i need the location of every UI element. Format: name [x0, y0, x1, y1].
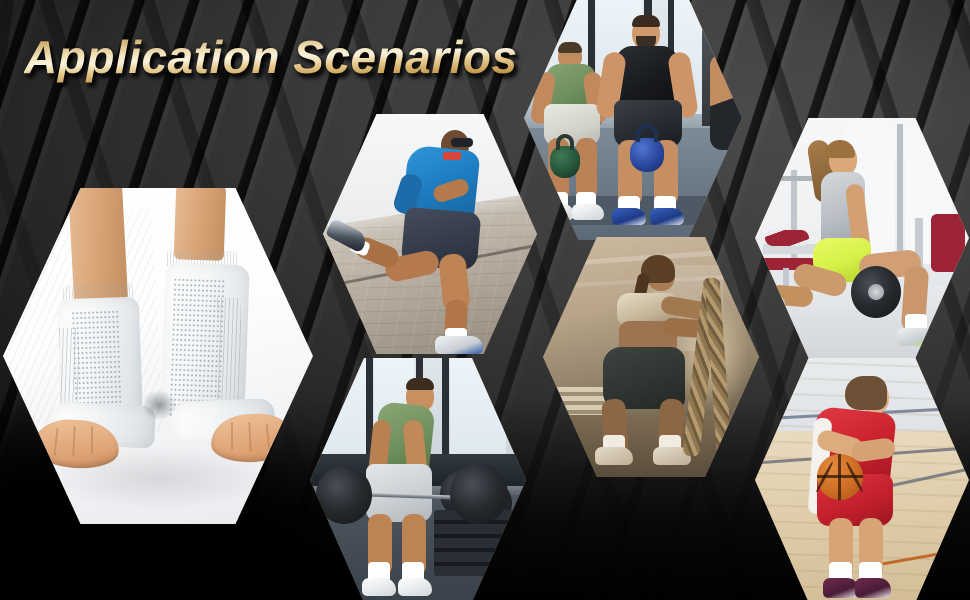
page-title-text: Application Scenarios — [24, 30, 518, 84]
man-black-right-shoe — [650, 208, 684, 225]
right-sleeve-ribs — [217, 298, 241, 408]
runner-shirt-logo — [443, 152, 461, 160]
runner-front-shoe — [435, 336, 483, 354]
man-green-right-leg — [576, 138, 597, 200]
page-title: Application Scenarios — [24, 30, 518, 84]
heel-shadow — [135, 384, 183, 426]
lunge-window-frame — [897, 124, 903, 268]
basketball-player-hair — [845, 376, 887, 410]
deadlift-left-shoe — [362, 578, 396, 596]
lunge-dumbbell-red — [765, 230, 809, 246]
deadlift-right-shoe — [398, 578, 432, 596]
deadlift-barbell-plate-right — [450, 464, 508, 524]
man-black-left-shoe — [612, 208, 646, 225]
application-scenarios-banner: Application Scenarios — [0, 0, 970, 600]
man-green-right-shoe — [572, 204, 604, 220]
lunge-weight-plate-hub — [868, 284, 884, 300]
man-green-hair — [558, 42, 582, 53]
kettlebell-green — [550, 146, 580, 178]
basketball — [817, 454, 863, 500]
kettlebell-green-handle — [556, 134, 574, 150]
deadlift-man-hair — [406, 378, 434, 390]
basketball-right-shoe — [855, 578, 891, 598]
kettlebell-blue — [630, 138, 664, 172]
basketball-left-shoe — [823, 578, 859, 598]
battlerope-left-shoe — [595, 447, 633, 465]
man-black-hair — [632, 15, 660, 27]
kettlebell-blue-handle — [636, 124, 658, 142]
man-black-tank — [616, 46, 678, 108]
runner-cap-sunglasses — [451, 138, 473, 147]
